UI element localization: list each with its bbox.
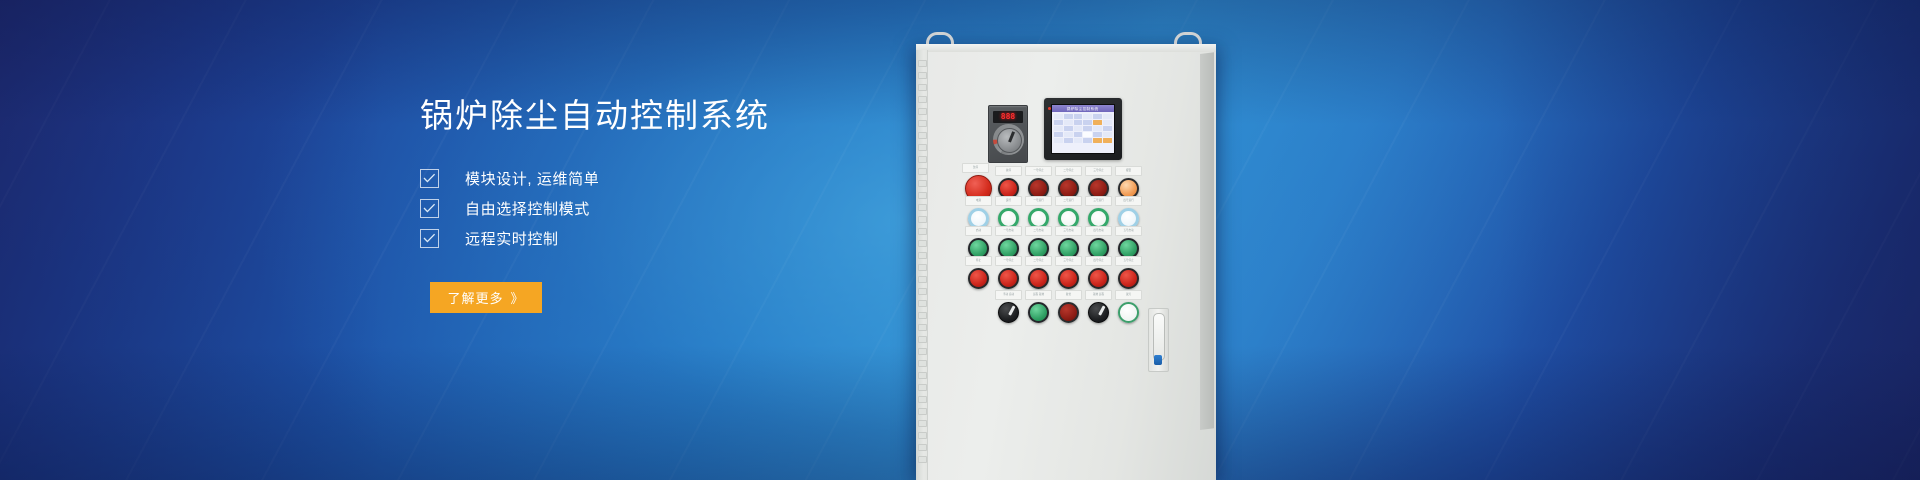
cabinet-side-panel [1200,52,1214,430]
indicator-button-white[interactable]: 试灯 [1118,302,1139,323]
button-label: 三号启动 [1055,226,1082,236]
checkbox-check-icon [420,199,439,218]
button-label: 三号停止 [1055,256,1082,266]
banner-content: 锅炉除尘自动控制系统 模块设计, 运维简单 自由选择控制模式 [420,96,940,313]
button-label: 四号停止 [1085,256,1112,266]
indicator-button-grid: 急停总停一号停止二号停止三号停止报警电源运行一号运行二号运行三号运行四号运行启动… [916,50,1216,480]
button-cap [1028,268,1049,289]
list-item-label: 远程实时控制 [465,228,559,249]
checkbox-check-icon [420,169,439,188]
indicator-button-darkred[interactable]: 复位 [1058,302,1079,323]
page-title: 锅炉除尘自动控制系统 [420,96,940,136]
button-label: 手动 自动 [995,290,1022,300]
button-label: 二号启动 [1025,226,1052,236]
button-label: 启动 [965,226,992,236]
button-cap [1088,302,1109,323]
indicator-button-red[interactable]: 停止 [968,268,989,289]
button-label: 运行 [995,196,1022,206]
indicator-button-green[interactable]: 远程 就地 [1028,302,1049,323]
button-label: 试灯 [1115,290,1142,300]
button-cap [968,268,989,289]
button-label: 一号停止 [1025,166,1052,176]
door-handle[interactable] [1148,308,1169,372]
indicator-button-red[interactable]: 五号停止 [1118,268,1139,289]
control-cabinet: 888 锅炉除尘控制系统 [916,50,1216,480]
list-item: 自由选择控制模式 [420,198,940,219]
double-chevron-right-icon: 》 [511,288,525,307]
list-item-label: 模块设计, 运维简单 [465,168,599,189]
indicator-button-selector[interactable]: 就地 远程 [1088,302,1109,323]
indicator-button-red[interactable]: 四号停止 [1088,268,1109,289]
button-label: 三号停止 [1085,166,1112,176]
button-cap [1058,268,1079,289]
button-cap [1028,302,1049,323]
button-label: 二号运行 [1055,196,1082,206]
indicator-button-red[interactable]: 一号停止 [998,268,1019,289]
button-label: 四号启动 [1085,226,1112,236]
checkbox-check-icon [420,229,439,248]
button-label: 复位 [1055,290,1082,300]
button-cap [1058,302,1079,323]
button-cap [1118,268,1139,289]
feature-list: 模块设计, 运维简单 自由选择控制模式 远程实时控制 [420,168,940,249]
list-item: 远程实时控制 [420,228,940,249]
button-cap [1088,268,1109,289]
button-cap [1118,302,1139,323]
indicator-button-selector[interactable]: 手动 自动 [998,302,1019,323]
learn-more-label: 了解更多 [447,288,503,307]
learn-more-button[interactable]: 了解更多 》 [430,282,542,313]
button-cap [998,268,1019,289]
button-label: 总停 [995,166,1022,176]
button-label: 电源 [965,196,992,206]
button-label: 二号停止 [1055,166,1082,176]
button-label: 就地 远程 [1085,290,1112,300]
button-label: 五号停止 [1115,256,1142,266]
button-label: 二号停止 [1025,256,1052,266]
button-label: 急停 [962,163,989,173]
hero-banner: 锅炉除尘自动控制系统 模块设计, 运维简单 自由选择控制模式 [0,0,1920,480]
button-label: 一号运行 [1025,196,1052,206]
product-photo: 888 锅炉除尘控制系统 [900,0,1460,480]
button-label: 三号运行 [1085,196,1112,206]
button-label: 四号运行 [1115,196,1142,206]
indicator-button-red[interactable]: 二号停止 [1028,268,1049,289]
button-label: 报警 [1115,166,1142,176]
indicator-button-red[interactable]: 三号停止 [1058,268,1079,289]
button-label: 远程 就地 [1025,290,1052,300]
handle-slot [1153,313,1165,361]
list-item-label: 自由选择控制模式 [465,198,590,219]
lock-icon[interactable] [1154,355,1162,365]
button-label: 一号停止 [995,256,1022,266]
button-label: 五号启动 [1115,226,1142,236]
button-label: 一号启动 [995,226,1022,236]
button-cap [998,302,1019,323]
button-label: 停止 [965,256,992,266]
list-item: 模块设计, 运维简单 [420,168,940,189]
